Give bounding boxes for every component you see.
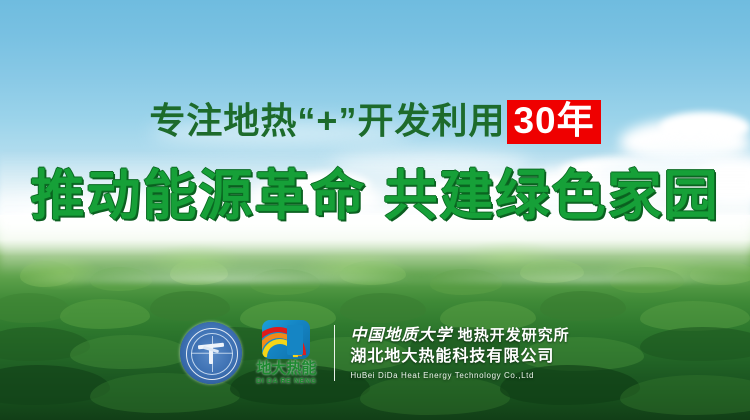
company-logo-en-name: DI DA RE NENG	[256, 377, 316, 386]
subheadline: 专注地热“+”开发利用30年	[0, 98, 750, 144]
org-university-name: 中国地质大学	[350, 327, 452, 344]
company-logo-cn-name: 地大热能	[256, 361, 316, 377]
logo-block-shape	[287, 325, 303, 355]
quote-close: ”	[338, 100, 357, 141]
organization-text: 中国地质大学 地热开发研究所 湖北地大热能科技有限公司 HuBei DiDa H…	[350, 325, 569, 382]
university-seal-icon	[180, 322, 242, 384]
subheadline-prefix: 专注地热	[149, 100, 297, 141]
plus-symbol: +	[316, 100, 338, 141]
org-institute-name: 地热开发研究所	[458, 327, 570, 344]
anniversary-badge: 30年	[507, 100, 600, 144]
org-company-name-en: HuBei DiDa Heat Energy Technology Co.,Lt…	[350, 369, 569, 382]
quote-open: “	[297, 100, 316, 141]
rainbow-logo-icon	[262, 320, 310, 359]
promotional-banner: 专注地热“+”开发利用30年 推动能源革命 共建绿色家园 地大热能 DI DA …	[0, 0, 750, 420]
org-company-name: 湖北地大热能科技有限公司	[350, 346, 569, 368]
org-line-1: 中国地质大学 地热开发研究所	[350, 325, 569, 346]
main-headline: 推动能源革命 共建绿色家园	[0, 163, 750, 229]
footer-divider	[334, 325, 335, 381]
seal-hammer-icon	[198, 339, 224, 365]
subheadline-middle: 开发利用	[357, 100, 505, 141]
company-logo: 地大热能 DI DA RE NENG	[252, 320, 320, 386]
footer-logo-bar: 地大热能 DI DA RE NENG 中国地质大学 地热开发研究所 湖北地大热能…	[0, 316, 750, 390]
